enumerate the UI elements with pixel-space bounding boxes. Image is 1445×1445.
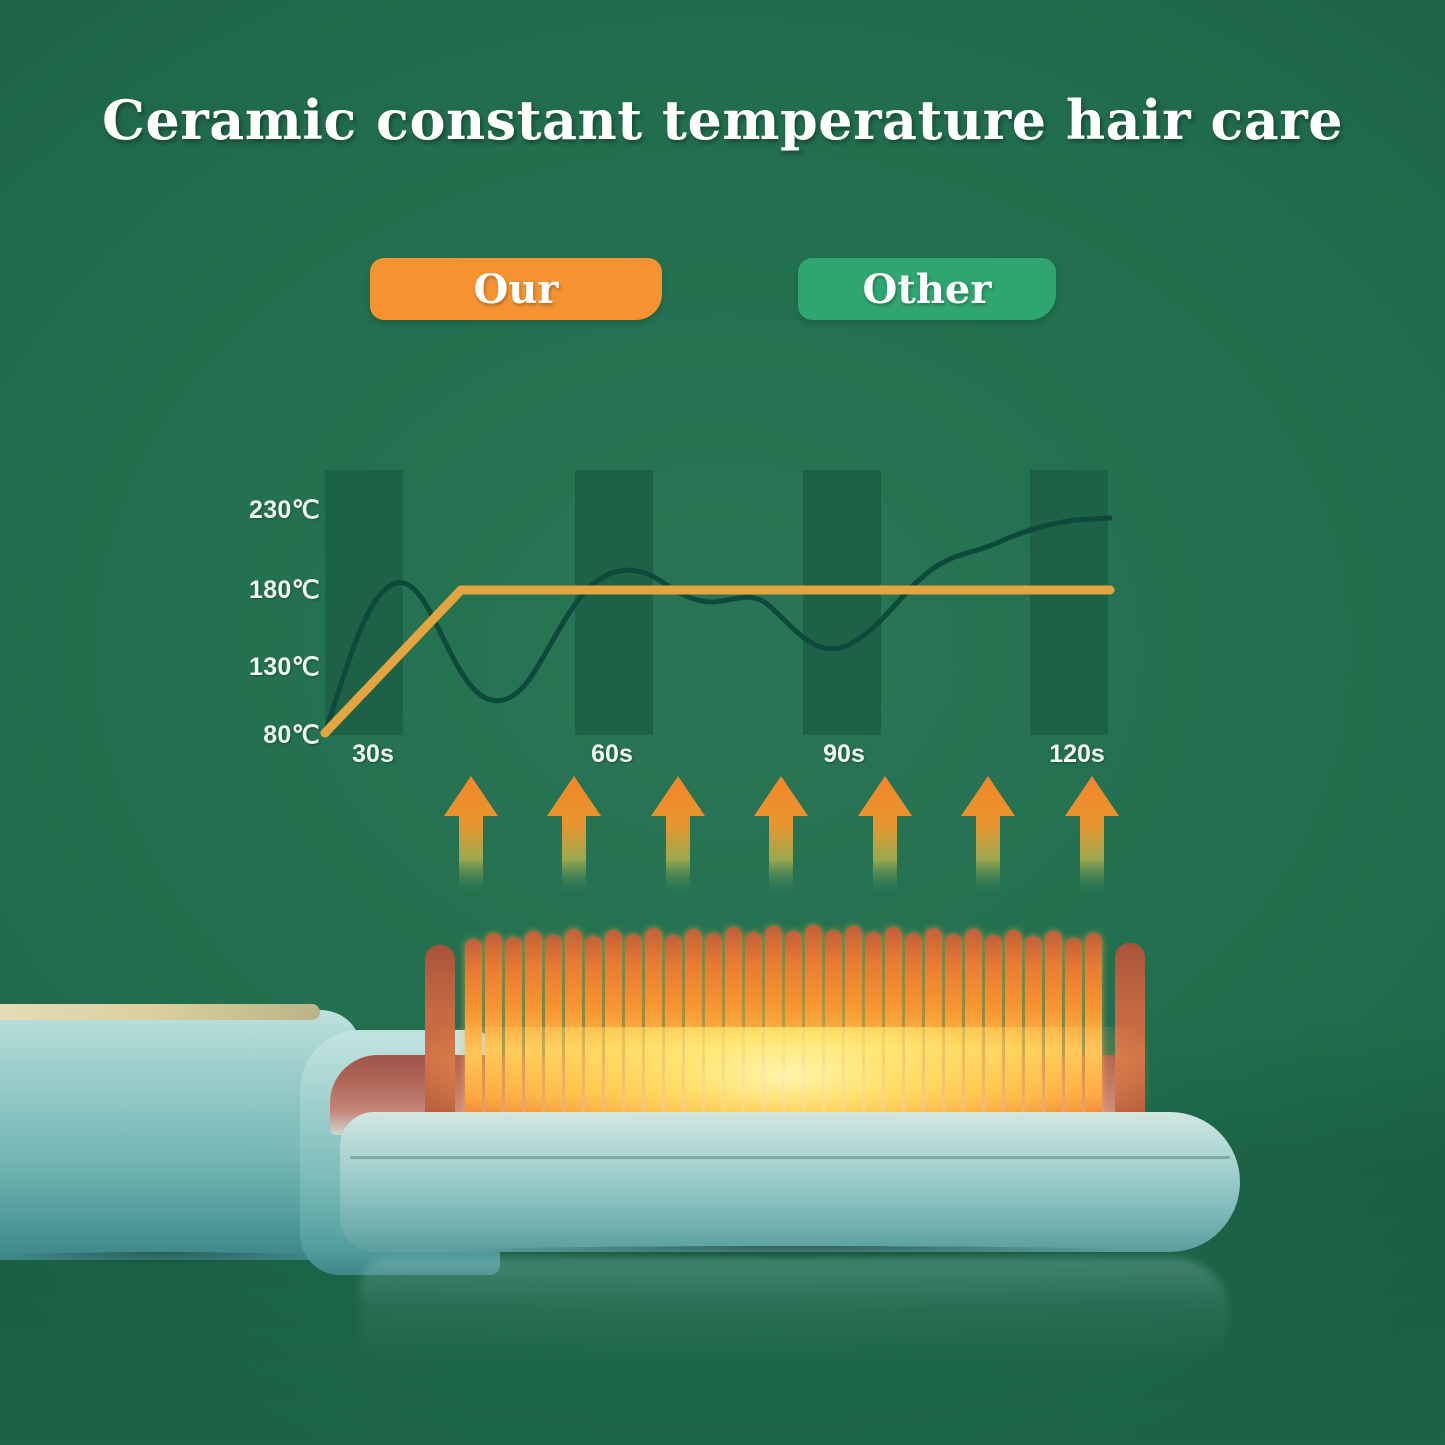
comb-tooth <box>705 933 722 1135</box>
x-tick-90s: 90s <box>823 740 865 769</box>
heat-arrow-icon <box>957 774 1019 892</box>
series-path-other <box>325 518 1110 733</box>
comb-tooth <box>1025 936 1042 1135</box>
product-head-body <box>340 1112 1240 1252</box>
chart-legend: Our Other <box>370 258 1070 328</box>
comb-tooth <box>925 928 942 1135</box>
comb-tooth <box>465 939 482 1135</box>
comb-tooth <box>645 928 662 1135</box>
comb-tooth <box>1065 938 1082 1135</box>
product-reflection <box>360 1258 1230 1368</box>
comb-tooth <box>805 925 822 1135</box>
comb-tooth <box>525 931 542 1135</box>
x-tick-120s: 120s <box>1049 740 1105 769</box>
comb-tooth <box>585 936 602 1135</box>
comb-end-tooth <box>1115 943 1145 1135</box>
comb-tooth <box>625 934 642 1135</box>
comb-tooth <box>545 935 562 1135</box>
comb-tooth <box>1005 930 1022 1135</box>
page-title: Ceramic constant temperature hair care <box>0 88 1445 152</box>
legend-badge-other[interactable]: Other <box>798 258 1056 320</box>
y-tick-80: 80℃ <box>200 720 320 750</box>
comb-tooth <box>685 929 702 1135</box>
y-tick-130: 130℃ <box>200 652 320 682</box>
comb-tooth <box>905 933 922 1135</box>
comb-end-tooth <box>425 945 455 1135</box>
legend-badge-our[interactable]: Our <box>370 258 662 320</box>
y-tick-180: 180℃ <box>200 575 320 605</box>
comb-tooth <box>1085 933 1102 1135</box>
comb-tooth <box>505 937 522 1135</box>
heat-arrow-icon <box>543 774 605 892</box>
comb-tooth <box>725 927 742 1135</box>
product-handle-gold-strip <box>0 1004 320 1020</box>
comb-tooth <box>945 934 962 1135</box>
comb-tooth <box>845 926 862 1135</box>
x-tick-30s: 30s <box>352 740 394 769</box>
comb-tooth <box>565 929 582 1135</box>
heat-arrow-icon <box>440 774 502 892</box>
y-tick-230: 230℃ <box>200 495 320 525</box>
comb-tooth <box>785 931 802 1135</box>
heat-arrow-icon <box>1061 774 1123 892</box>
comb-tooth <box>605 930 622 1135</box>
heat-rising-arrows <box>440 772 1140 892</box>
product-head-seam <box>350 1156 1230 1159</box>
heat-arrow-icon <box>647 774 709 892</box>
comb-tooth <box>825 930 842 1135</box>
chart-y-axis: 230℃ 180℃ 130℃ 80℃ <box>200 455 320 785</box>
legend-label-our: Our <box>474 266 559 313</box>
temperature-chart: 230℃ 180℃ 130℃ 80℃ 30s 60s 90s 120s <box>200 455 1160 785</box>
series-path-our <box>325 590 1110 733</box>
comb-tooth <box>885 927 902 1135</box>
chart-series-svg <box>325 470 1110 735</box>
comb-tooth <box>965 929 982 1135</box>
comb-tooth <box>485 933 502 1135</box>
legend-label-other: Other <box>863 266 992 313</box>
comb-tooth <box>765 926 782 1135</box>
comb-tooth <box>745 932 762 1135</box>
x-tick-60s: 60s <box>591 740 633 769</box>
comb-tooth <box>665 935 682 1135</box>
product-comb-teeth <box>425 920 1150 1135</box>
heat-arrow-icon <box>854 774 916 892</box>
infographic-canvas: Ceramic constant temperature hair care O… <box>0 0 1445 1445</box>
comb-tooth <box>865 932 882 1135</box>
comb-tooth <box>985 935 1002 1135</box>
chart-plot-area <box>325 470 1110 735</box>
heat-arrow-icon <box>750 774 812 892</box>
comb-tooth <box>1045 931 1062 1135</box>
